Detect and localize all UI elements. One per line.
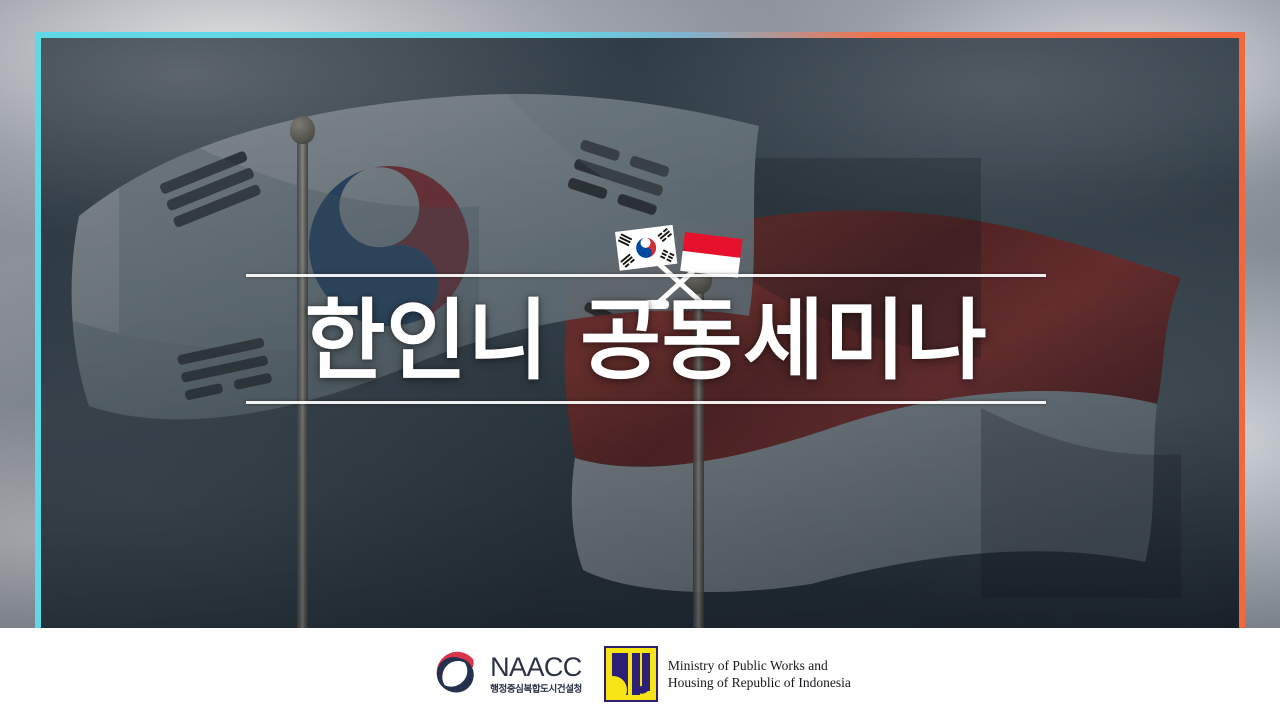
naacc-korean-subtitle: 행정중심복합도시건설청 [490,685,582,695]
page-title: 한인니 공동세미나 [246,289,1046,393]
background-photo: 한인니 공동세미나 [41,38,1239,628]
video-stage: 한인니 공동세미나 [0,0,1280,628]
ministry-name-block: Ministry of Public Works and Housing of … [668,657,851,692]
title-rule-bottom [246,401,1046,404]
taegeuk-swirl-icon [429,648,481,700]
ministry-of-public-works-logo: Ministry of Public Works and Housing of … [604,646,851,702]
naacc-wordmark-block: NAACC 행정중심복합도시건설청 [490,654,582,695]
title-block: 한인니 공동세미나 [246,274,1046,404]
naacc-logo: NAACC 행정중심복합도시건설청 [429,648,582,700]
pu-monogram-glyph [606,648,656,700]
ministry-name-line-1: Ministry of Public Works and [668,657,851,674]
frame-inner: 한인니 공동세미나 [41,38,1239,628]
ministry-name-line-2: Housing of Republic of Indonesia [668,674,851,691]
title-slide: 한인니 공동세미나 NAACC 행정중심복합도시건설청 [0,0,1280,720]
gradient-border-frame: 한인니 공동세미나 [35,32,1245,628]
title-rule-top [246,274,1046,277]
footer-logo-bar: NAACC 행정중심복합도시건설청 Ministry of Public Wo [0,628,1280,720]
naacc-wordmark: NAACC [490,654,582,681]
pu-monogram-icon [604,646,658,702]
